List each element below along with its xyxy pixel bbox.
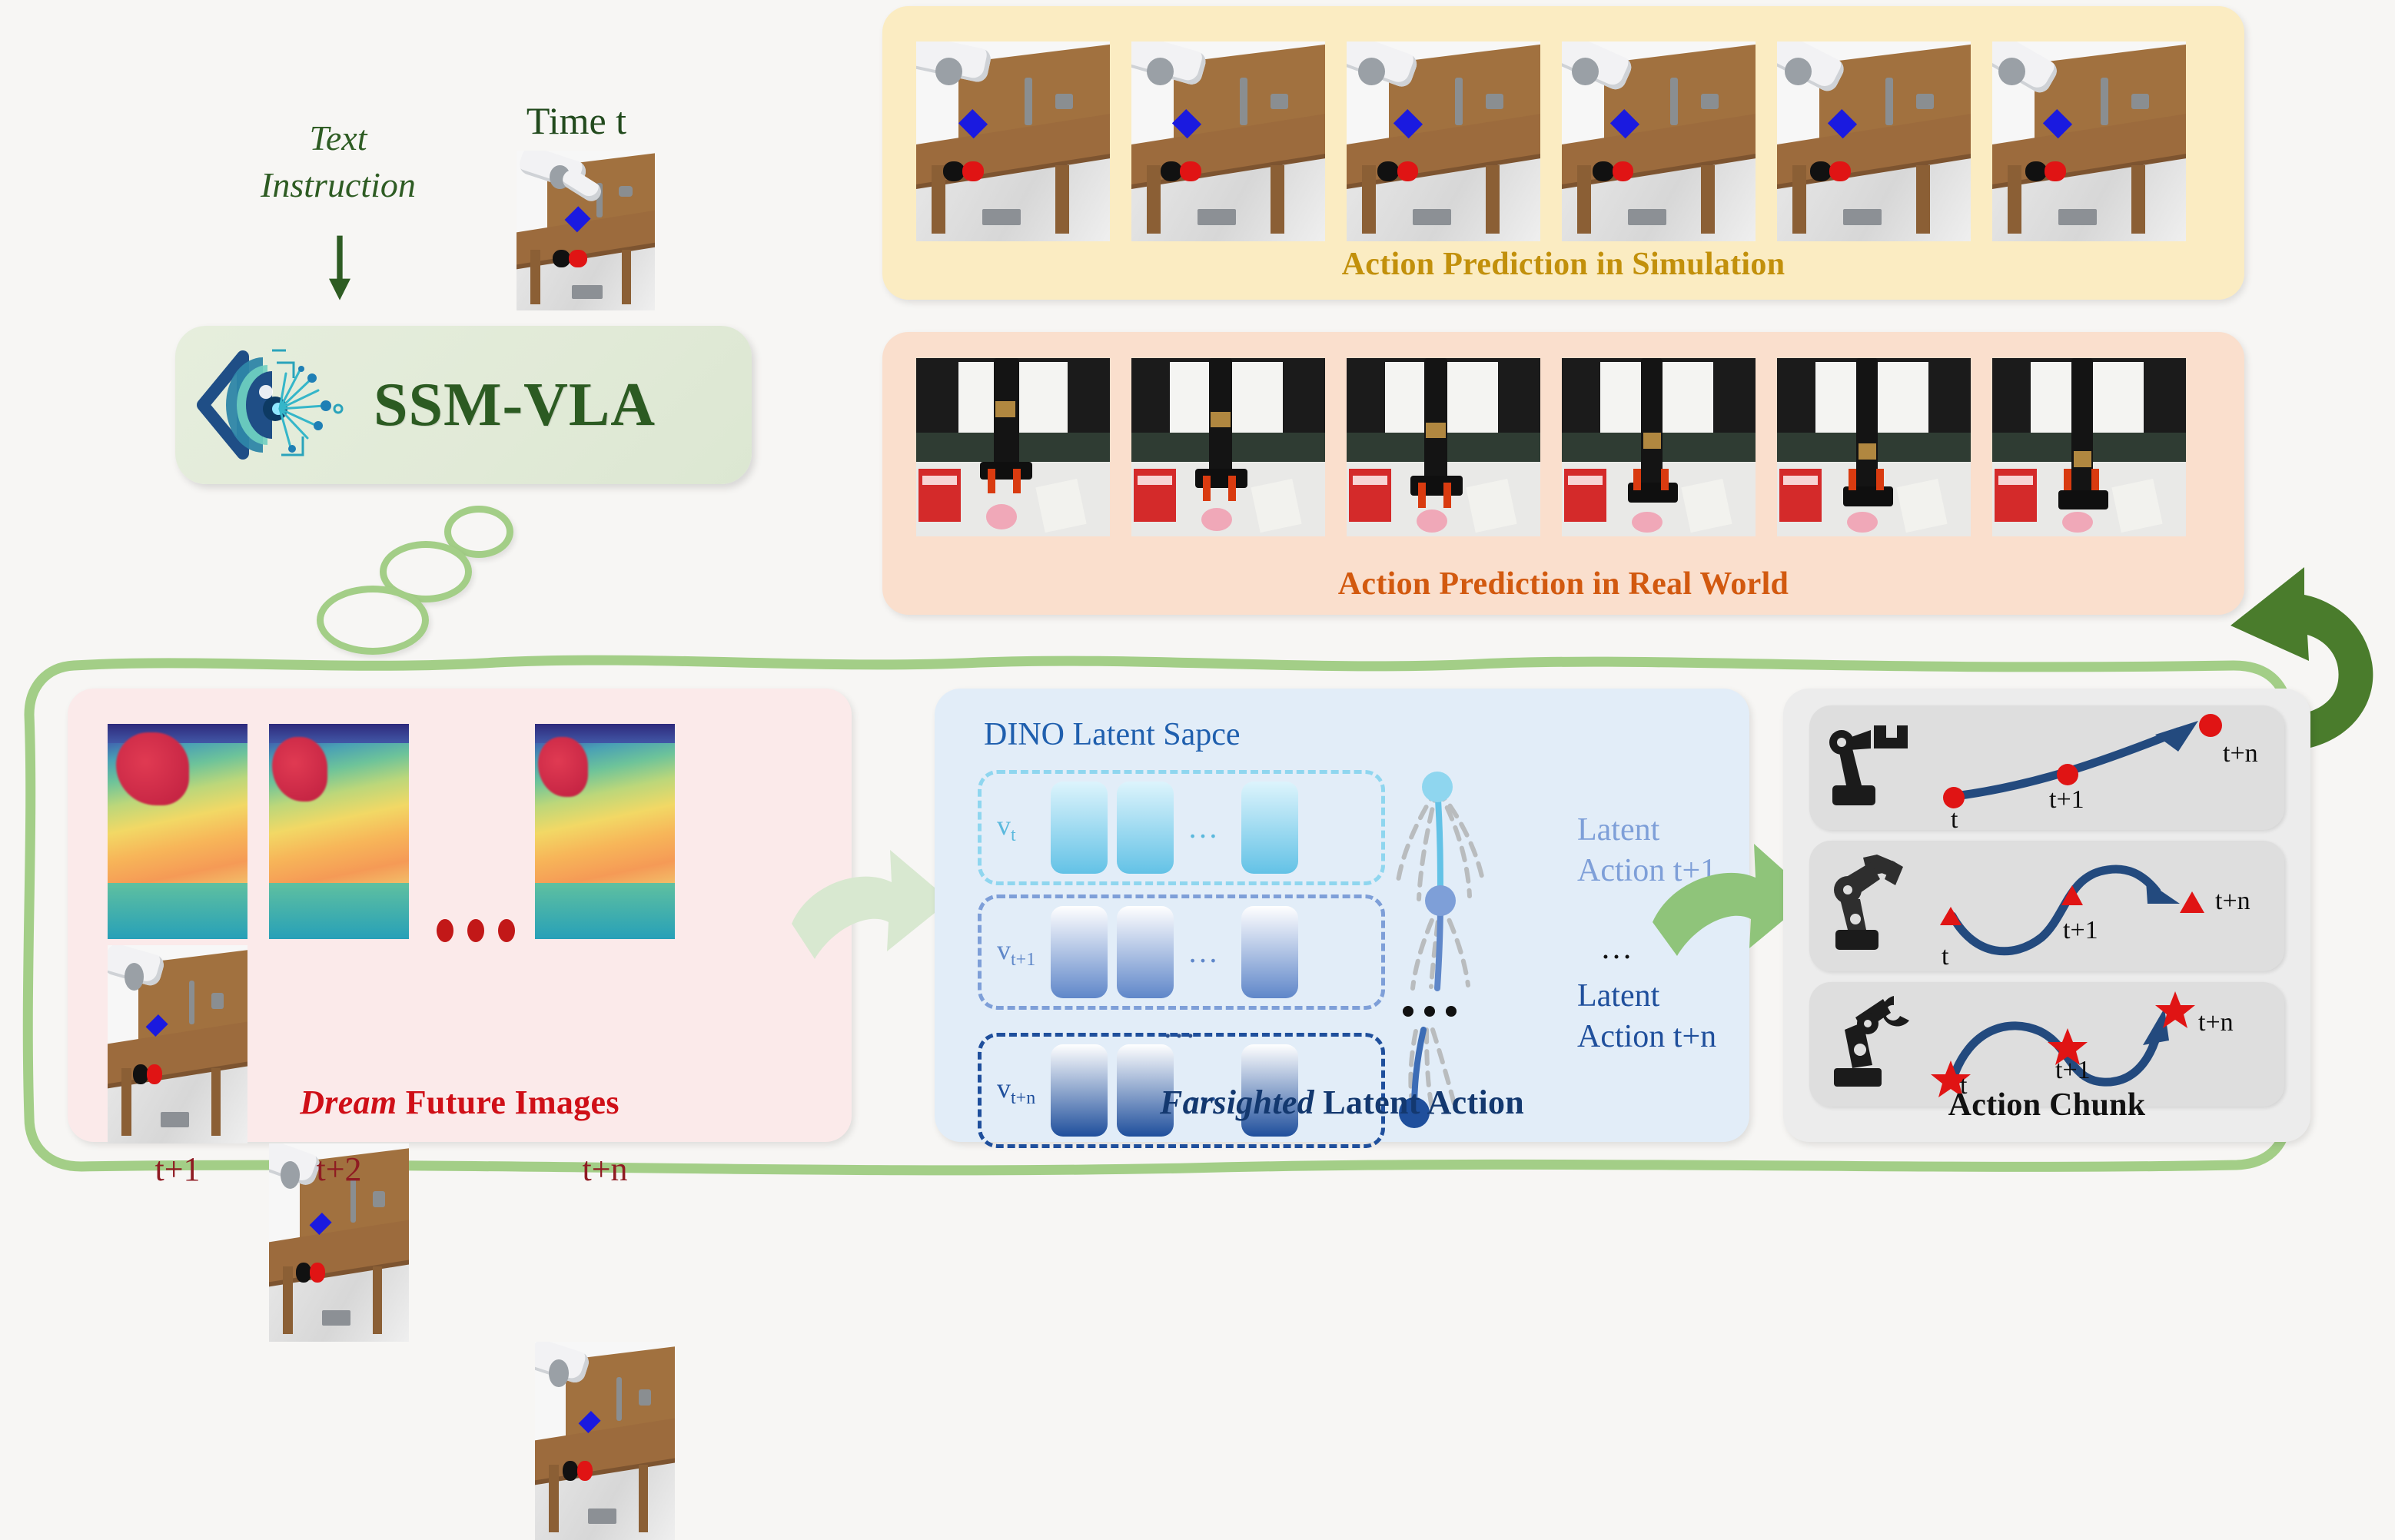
latent-cell — [1051, 782, 1108, 874]
latent-action-tn-line2: Action t+n — [1577, 1017, 1746, 1057]
action-chunk-row: t t+1 t+n — [1809, 705, 2284, 830]
time-t-thumbnail — [517, 151, 655, 310]
latent-cell-ellipsis: … — [1188, 934, 1221, 970]
real-world-frame — [916, 358, 1110, 536]
simulation-frame — [1347, 41, 1540, 241]
action-chunk-caption: Action Chunk — [1783, 1087, 2310, 1123]
time-t-label: Time t — [492, 98, 661, 143]
action-chunk-label-t1: t+1 — [2055, 1056, 2091, 1085]
farsighted-latent-action-panel: DINO Latent Sapce vt … vt+1 … … vt+n … — [935, 689, 1749, 1142]
latent-caption-emphasis: Farsighted — [1160, 1084, 1314, 1121]
real-world-panel: Action Prediction in Real World — [882, 332, 2244, 615]
ssm-vla-label: SSM-VLA — [374, 370, 656, 440]
simulation-frame — [1777, 41, 1971, 241]
dream-depth-frame — [269, 724, 409, 939]
text-instruction-line-2: Instruction — [231, 162, 446, 209]
action-chunk-label-t1: t+1 — [2063, 916, 2098, 945]
dream-caption-emphasis: Dream — [300, 1084, 397, 1121]
dream-timestamp: t+n — [535, 1150, 675, 1189]
latent-row-label: vt+1 — [997, 934, 1035, 971]
simulation-frame — [916, 41, 1110, 241]
action-chunk-panel: t t+1 t+n t t+1 t+n — [1783, 689, 2310, 1142]
dream-future-images-panel: t+1 t+2 t+n Dream Future Images — [68, 689, 852, 1142]
dream-caption-rest: Future Images — [397, 1084, 619, 1121]
action-trajectory — [1925, 987, 2270, 1102]
simulation-frame — [1562, 41, 1756, 241]
action-chunk-label-tn: t+n — [2223, 739, 2258, 768]
real-world-panel-caption: Action Prediction in Real World — [882, 566, 2244, 602]
latent-row-label: vt — [997, 809, 1016, 846]
robot-arm-icon — [1826, 722, 1918, 815]
dream-timestamp: t+2 — [269, 1150, 409, 1189]
real-world-frame — [1347, 358, 1540, 536]
simulation-panel: Action Prediction in Simulation — [882, 6, 2244, 300]
latent-panel-caption: Farsighted Latent Action — [935, 1083, 1749, 1122]
action-chunk-label-tn: t+n — [2215, 887, 2251, 916]
action-chunk-label-t: t — [1951, 805, 1958, 835]
dream-depth-frame — [108, 724, 247, 939]
robot-arm-icon — [1829, 991, 1925, 1093]
curved-arrow-right-icon — [792, 838, 953, 972]
simulation-frame — [1131, 41, 1325, 241]
down-arrow-icon — [324, 223, 355, 315]
latent-cell-ellipsis: … — [1188, 809, 1221, 845]
dream-ellipsis — [437, 919, 515, 942]
latent-cell — [1241, 782, 1298, 874]
action-chunk-row: t t+1 t+n — [1809, 841, 2284, 971]
latent-branching-diagram — [1393, 768, 1585, 1130]
latent-action-tn-label: Latent Action t+n — [1577, 976, 1746, 1057]
real-world-frame — [1562, 358, 1756, 536]
real-world-frame — [1777, 358, 1971, 536]
latent-action-tn-line1: Latent — [1577, 976, 1746, 1017]
latent-caption-rest: Latent Action — [1314, 1084, 1524, 1121]
action-trajectory — [1925, 713, 2263, 821]
simulation-panel-caption: Action Prediction in Simulation — [882, 246, 2244, 283]
latent-cell — [1117, 906, 1174, 998]
action-chunk-label-tn: t+n — [2198, 1008, 2234, 1037]
latent-cell — [1241, 906, 1298, 998]
ssm-vla-model-box[interactable]: SSM-VLA — [175, 326, 752, 484]
thought-bubble-large — [317, 586, 429, 655]
simulation-frame — [1992, 41, 2186, 241]
simulation-frame-strip — [916, 41, 2186, 241]
latent-cell — [1051, 906, 1108, 998]
dream-rgb-frame — [535, 1342, 675, 1540]
latent-cell — [1117, 782, 1174, 874]
dream-timestamp: t+1 — [108, 1150, 247, 1189]
latent-actions-ellipsis: … — [1600, 930, 1637, 967]
text-instruction-line-1: Text — [231, 115, 446, 162]
robot-arm-icon — [1829, 853, 1922, 956]
text-instruction-label: Text Instruction — [231, 115, 446, 208]
real-world-frame — [1992, 358, 2186, 536]
action-chunk-label-t1: t+1 — [2049, 785, 2084, 815]
real-world-frame-strip — [916, 358, 2186, 536]
dino-latent-space-title: DINO Latent Sapce — [935, 716, 1749, 753]
dream-depth-frame — [535, 724, 675, 939]
dream-panel-caption: Dream Future Images — [68, 1083, 852, 1122]
latent-row-vt1: vt+1 … — [978, 894, 1385, 1010]
action-chunk-label-t: t — [1942, 942, 1948, 971]
latent-row-vt: vt … — [978, 770, 1385, 885]
real-world-frame — [1131, 358, 1325, 536]
eye-circuit-logo-icon — [195, 340, 357, 470]
